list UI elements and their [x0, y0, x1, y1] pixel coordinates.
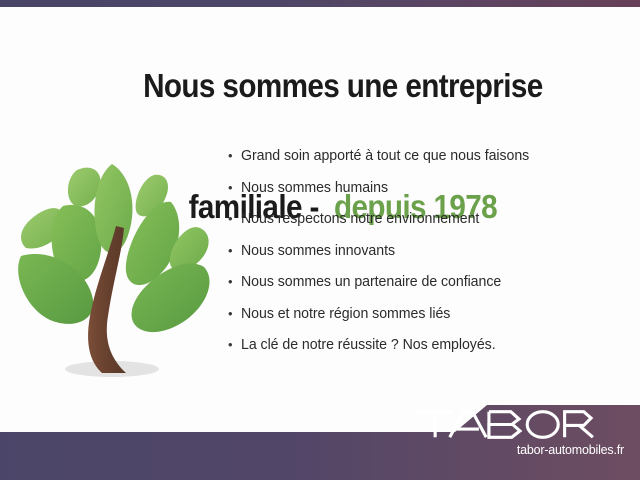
logo-tagline: tabor-automobiles.fr	[424, 442, 624, 457]
list-item-label: Nous sommes humains	[241, 180, 388, 196]
list-item: • Grand soin apporté à tout ce que nous …	[228, 148, 628, 180]
list-item: • Nous sommes humains	[228, 180, 628, 212]
list-item: • Nous sommes un partenaire de confiance	[228, 274, 628, 306]
list-item-label: Nous sommes un partenaire de confiance	[241, 274, 501, 290]
list-item-label: Nous sommes innovants	[241, 243, 395, 259]
bullet-icon: •	[228, 212, 241, 225]
list-item-label: Nous respectons notre environnement	[241, 211, 479, 227]
headline-line-1-text: Nous sommes une entreprise	[143, 67, 543, 104]
bullet-icon: •	[228, 307, 241, 320]
logo-wordmark-tabor	[416, 409, 598, 440]
list-item: • La clé de notre réussite ? Nos employé…	[228, 337, 628, 369]
brand-logo[interactable]: tabor-automobiles.fr	[416, 409, 626, 457]
list-item-label: La clé de notre réussite ? Nos employés.	[241, 337, 496, 353]
list-item: • Nous et notre région sommes liés	[228, 306, 628, 338]
list-item-label: Nous et notre région sommes liés	[241, 306, 450, 322]
slide-canvas: Nous sommes une entreprise familiale - d…	[0, 0, 640, 480]
benefits-list: • Grand soin apporté à tout ce que nous …	[228, 148, 628, 369]
list-item-label: Grand soin apporté à tout ce que nous fa…	[241, 148, 529, 164]
bullet-icon: •	[228, 149, 241, 162]
list-item: • Nous sommes innovants	[228, 243, 628, 275]
tree-illustration	[8, 148, 224, 398]
bullet-icon: •	[228, 275, 241, 288]
headline-line-1: Nous sommes une entreprise	[32, 26, 608, 147]
bullet-icon: •	[228, 338, 241, 351]
bullet-icon: •	[228, 244, 241, 257]
list-item: • Nous respectons notre environnement	[228, 211, 628, 243]
bullet-icon: •	[228, 181, 241, 194]
top-accent-bar	[0, 0, 640, 7]
